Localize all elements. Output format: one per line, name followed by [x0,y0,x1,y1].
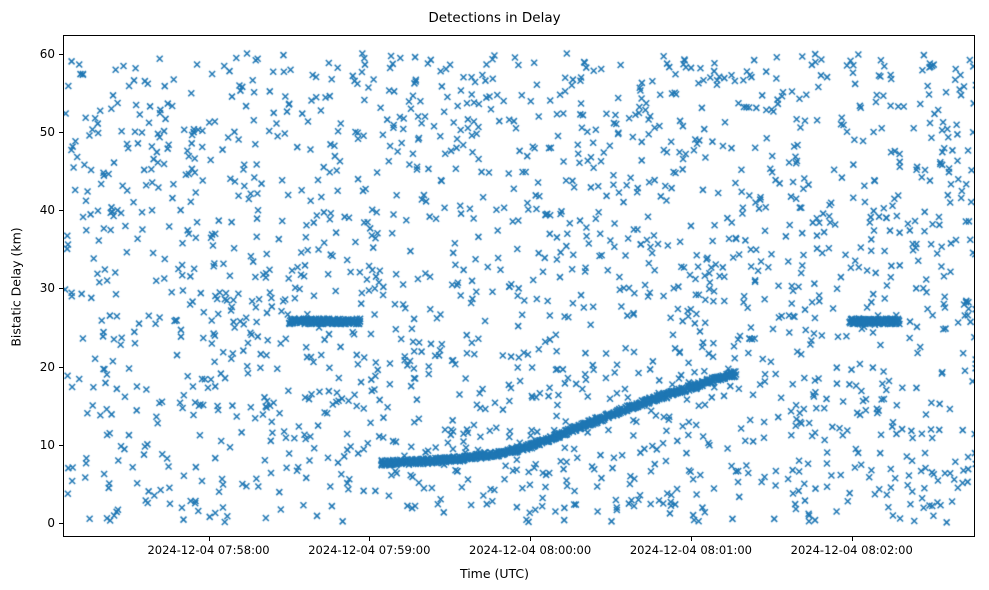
x-tick-label: 2024-12-04 07:58:00 [147,543,269,557]
y-tick-label: 40 [0,203,61,217]
plot-area [63,35,975,537]
scatter-canvas [64,36,974,536]
y-tick-label: 60 [0,47,61,61]
x-tick-label: 2024-12-04 08:02:00 [791,543,913,557]
x-tick-mark [209,537,210,541]
y-tick-label: 50 [0,125,61,139]
x-axis-label: Time (UTC) [0,566,989,581]
x-tick-label: 2024-12-04 08:01:00 [630,543,752,557]
x-tick-mark [530,537,531,541]
y-tick-label: 10 [0,438,61,452]
x-tick-mark [369,537,370,541]
matplotlib-figure: Detections in Delay Bistatic Delay (km) … [0,0,989,590]
x-tick-mark [852,537,853,541]
chart-title: Detections in Delay [0,10,989,26]
x-tick-label: 2024-12-04 08:00:00 [469,543,591,557]
y-tick-label: 30 [0,281,61,295]
y-tick-label: 20 [0,360,61,374]
x-tick-mark [691,537,692,541]
y-tick-label: 0 [0,516,61,530]
x-tick-label: 2024-12-04 07:59:00 [308,543,430,557]
